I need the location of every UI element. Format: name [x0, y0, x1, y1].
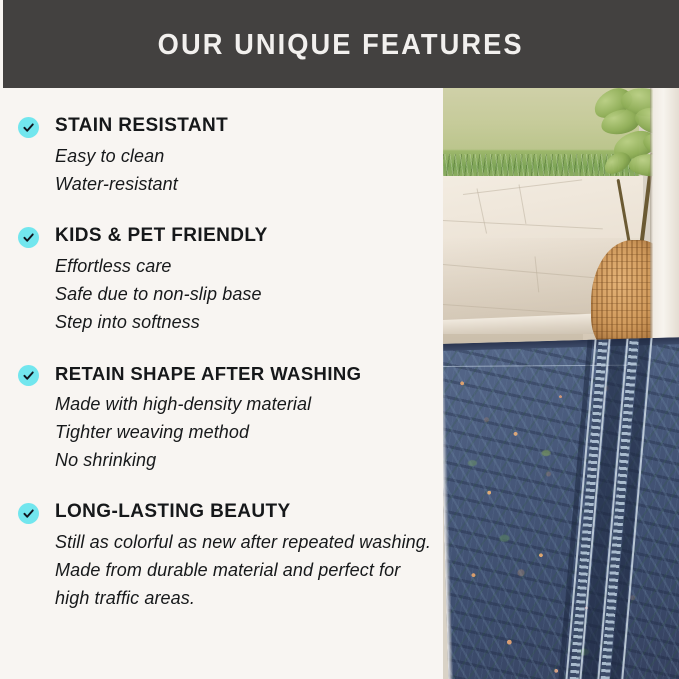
feature-line: Water-resistant	[55, 170, 435, 198]
feature-title: KIDS & PET FRIENDLY	[55, 224, 435, 248]
check-circle-icon	[18, 227, 39, 248]
feature-line: Effortless care	[55, 252, 435, 280]
feature-title: STAIN RESISTANT	[55, 114, 435, 138]
feature-title: RETAIN SHAPE AFTER WASHING	[55, 362, 435, 386]
features-list: STAIN RESISTANT Easy to clean Water-resi…	[0, 88, 443, 679]
photo-scene	[443, 88, 679, 679]
feature-item-kids-pet-friendly: KIDS & PET FRIENDLY Effortless care Safe…	[18, 224, 435, 336]
feature-line: Step into softness	[55, 308, 435, 336]
feature-item-stain-resistant: STAIN RESISTANT Easy to clean Water-resi…	[18, 114, 435, 198]
outdoor-patio-rug-photo	[443, 88, 679, 679]
check-circle-icon	[18, 365, 39, 386]
feature-item-long-lasting-beauty: LONG-LASTING BEAUTY Still as colorful as…	[18, 500, 435, 612]
check-circle-icon	[18, 117, 39, 138]
check-circle-icon	[18, 503, 39, 524]
header-banner: OUR UNIQUE FEATURES	[3, 0, 679, 88]
feature-item-retain-shape: RETAIN SHAPE AFTER WASHING Made with hig…	[18, 362, 435, 474]
feature-line: No shrinking	[55, 446, 435, 474]
feature-line: Easy to clean	[55, 142, 435, 170]
blue-floral-area-rug	[443, 337, 679, 679]
feature-line: Made with high-density material	[55, 390, 435, 418]
feature-paragraph: Still as colorful as new after repeated …	[55, 528, 431, 612]
feature-line: Safe due to non-slip base	[55, 280, 435, 308]
feature-title: LONG-LASTING BEAUTY	[55, 500, 435, 524]
feature-infographic-page: OUR UNIQUE FEATURES STAIN RESISTANT Easy…	[0, 0, 679, 679]
feature-line: Tighter weaving method	[55, 418, 435, 446]
page-title: OUR UNIQUE FEATURES	[158, 29, 524, 62]
